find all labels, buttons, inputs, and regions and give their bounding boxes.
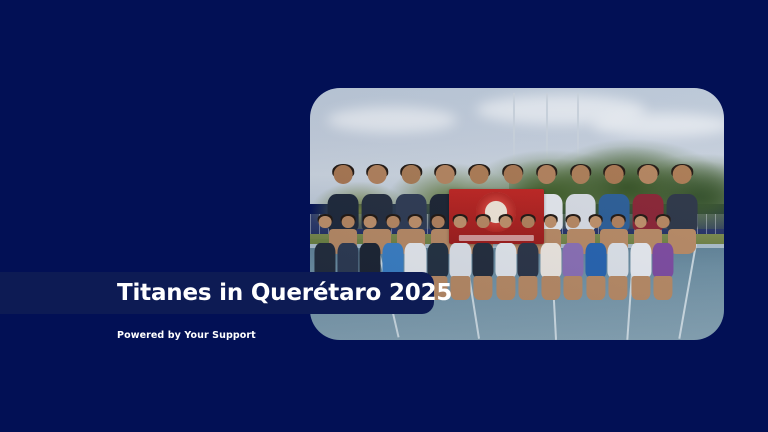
athlete xyxy=(583,214,608,300)
athlete xyxy=(606,214,631,300)
athlete xyxy=(561,214,586,300)
athlete xyxy=(471,214,496,300)
athlete xyxy=(651,214,676,300)
athlete xyxy=(538,214,563,300)
cloud xyxy=(327,107,457,133)
page-title: Titanes in Querétaro 2025 xyxy=(117,279,452,307)
subtitle: Powered by Your Support xyxy=(117,330,256,341)
promo-banner: Titanes in Querétaro 2025 Powered by You… xyxy=(0,0,768,432)
athlete xyxy=(516,214,541,300)
athlete xyxy=(493,214,518,300)
cloud xyxy=(592,113,724,137)
athlete xyxy=(628,214,653,300)
lane-line xyxy=(678,244,697,339)
